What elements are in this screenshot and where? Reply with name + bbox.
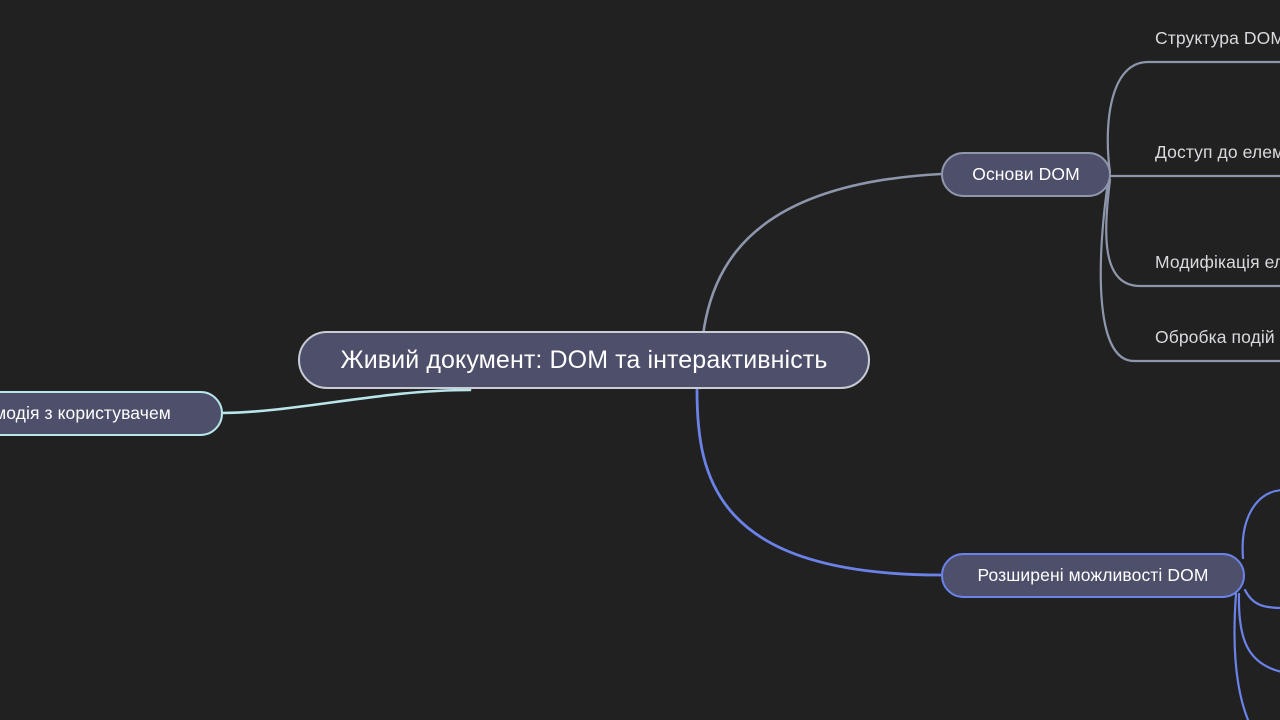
branch-node-rozshyreni-mozhlyvosti-dom[interactable]: Розширені можливості DOM xyxy=(941,553,1245,598)
branch-node-label-osnovy-dom: Основи DOM xyxy=(972,164,1080,185)
root-node-label: Живий документ: DOM та інтерактивність xyxy=(341,346,828,375)
branch-node-osnovy-dom[interactable]: Основи DOM xyxy=(941,152,1111,197)
edge-rozshyreni-child-3 xyxy=(1239,594,1280,672)
leaf-struktura-dom[interactable]: Структура DOM xyxy=(1155,28,1280,49)
leaf-underline-obrobka-podii xyxy=(1134,360,1280,362)
edge-root-to-rozshyreni xyxy=(697,390,941,575)
leaf-label-modyfikatsiia-elementiv: Модифікація елементів xyxy=(1155,252,1280,272)
edge-root-to-vzaiemodiia xyxy=(222,390,470,413)
leaf-label-struktura-dom: Структура DOM xyxy=(1155,28,1280,48)
edge-rozshyreni-child-4 xyxy=(1235,594,1249,720)
leaf-label-dostup-do-elementiv: Доступ до елементів xyxy=(1155,142,1280,162)
leaf-dostup-do-elementiv[interactable]: Доступ до елементів xyxy=(1155,142,1280,163)
root-node[interactable]: Живий документ: DOM та інтерактивність xyxy=(298,331,870,389)
leaf-underline-dostup-do-elementiv xyxy=(1148,175,1280,177)
leaf-modyfikatsiia-elementiv[interactable]: Модифікація елементів xyxy=(1155,252,1280,273)
leaf-underline-struktura-dom xyxy=(1148,61,1280,63)
edge-rozshyreni-child-1 xyxy=(1243,490,1280,558)
leaf-obrobka-podii[interactable]: Обробка подій xyxy=(1155,327,1275,348)
edge-rozshyreni-child-2 xyxy=(1245,590,1280,608)
leaf-underline-modyfikatsiia-elementiv xyxy=(1140,285,1280,287)
branch-node-vzaiemodiia-z-korystuvachem[interactable]: модія з користувачем xyxy=(0,391,223,436)
leaf-label-obrobka-podii: Обробка подій xyxy=(1155,327,1275,347)
branch-node-label-rozshyreni-mozhlyvosti-dom: Розширені можливості DOM xyxy=(978,565,1209,586)
mindmap-canvas: Живий документ: DOM та інтерактивність О… xyxy=(0,0,1280,720)
branch-node-label-vzaiemodiia-z-korystuvachem: модія з користувачем xyxy=(0,403,171,424)
